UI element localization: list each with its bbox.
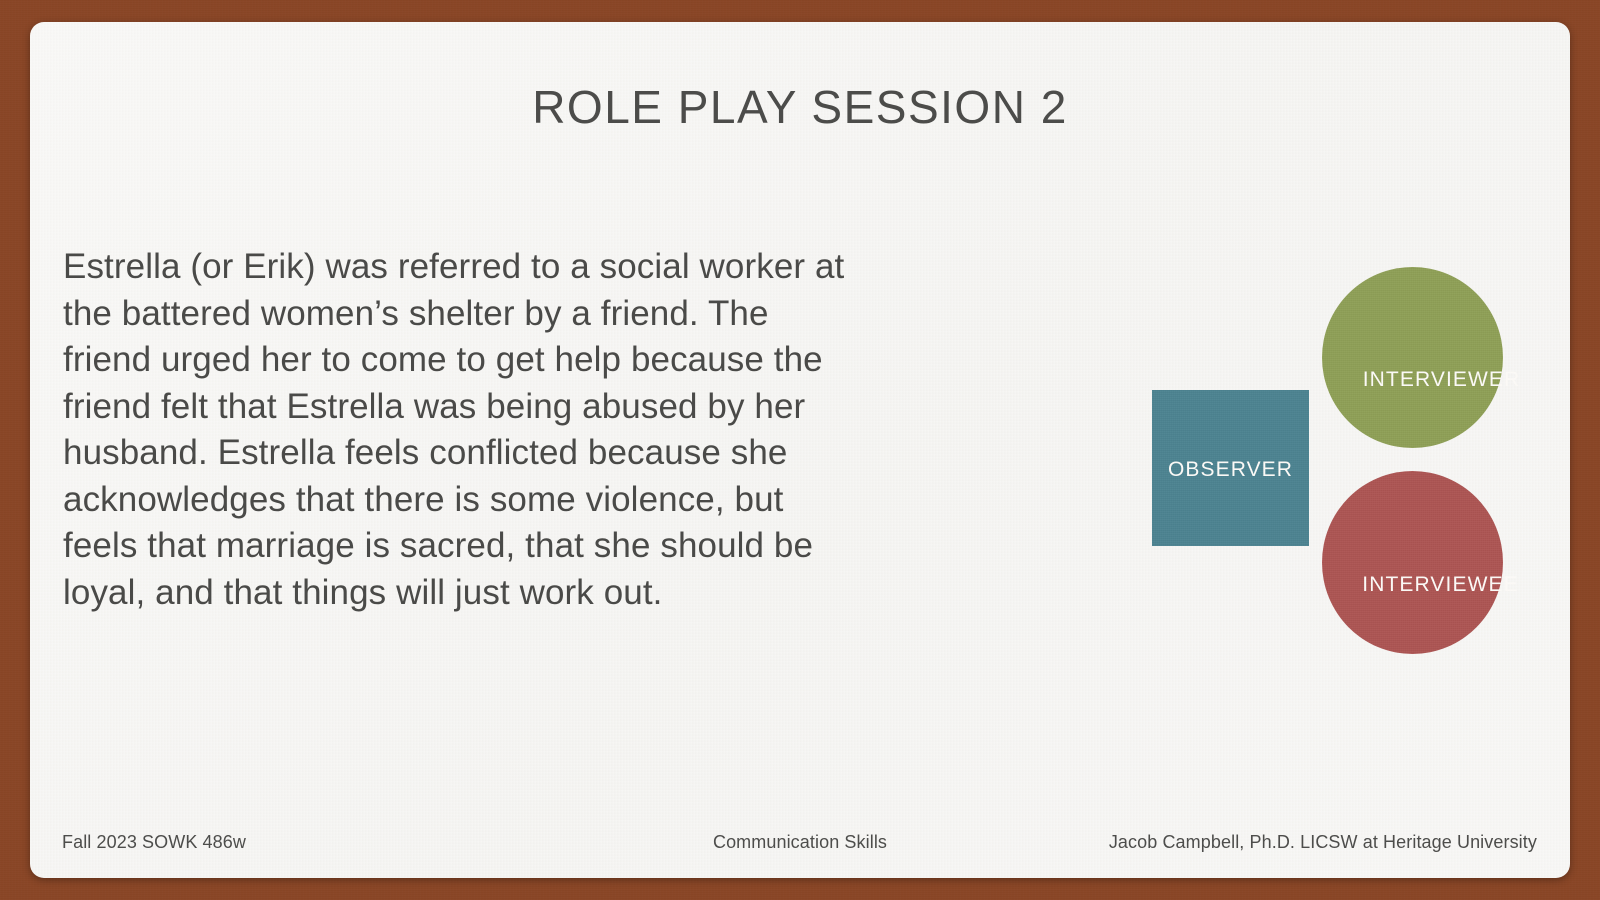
page-title: ROLE PLAY SESSION 2 bbox=[30, 80, 1570, 134]
role-shape-interviewer: INTERVIEWER bbox=[1322, 267, 1503, 448]
scenario-body-text: Estrella (or Erik) was referred to a soc… bbox=[63, 244, 863, 616]
role-shape-interviewee: INTERVIEWEE bbox=[1322, 471, 1503, 654]
slide-footer: Fall 2023 SOWK 486w Communication Skills… bbox=[30, 832, 1570, 856]
role-diagram: OBSERVER INTERVIEWER INTERVIEWEE bbox=[1120, 247, 1540, 667]
role-shape-observer: OBSERVER bbox=[1152, 390, 1309, 546]
slide-canvas: ROLE PLAY SESSION 2 Estrella (or Erik) w… bbox=[30, 22, 1570, 878]
role-label-interviewee: INTERVIEWEE bbox=[1362, 573, 1518, 597]
role-label-observer: OBSERVER bbox=[1168, 458, 1293, 482]
role-label-interviewer: INTERVIEWER bbox=[1363, 368, 1521, 392]
footer-author: Jacob Campbell, Ph.D. LICSW at Heritage … bbox=[1109, 832, 1537, 853]
